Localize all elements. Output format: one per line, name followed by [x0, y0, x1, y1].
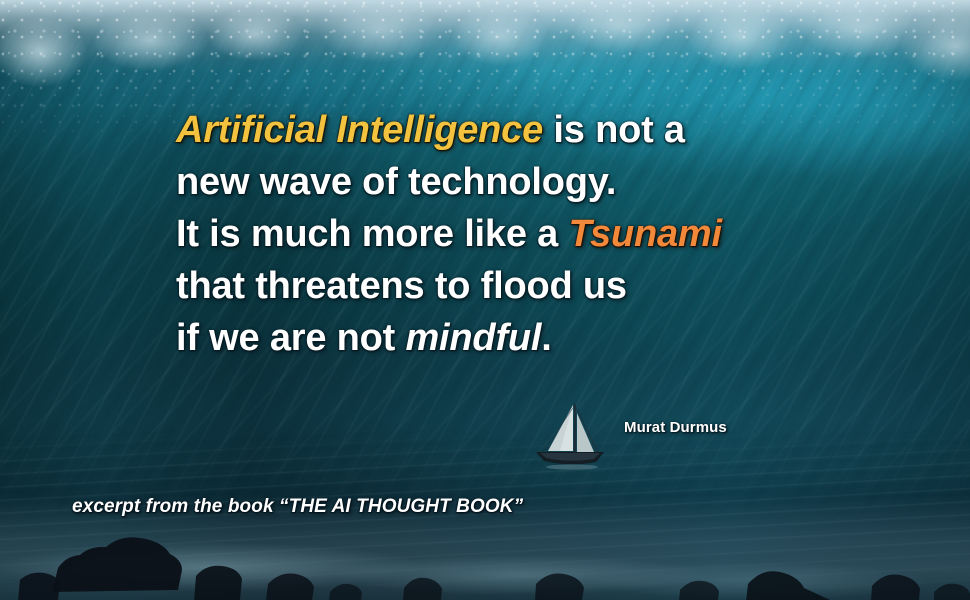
quote-line-5: if we are not mindful. [176, 312, 876, 364]
emphasis-mindful: mindful [405, 317, 541, 359]
quote-graphic: Artificial Intelligence is not a new wav… [0, 0, 970, 600]
sailboat-icon [528, 398, 612, 470]
quote-line-4-text: that threatens to flood us [176, 265, 627, 307]
quote-line-1-tail: is not a [543, 109, 685, 151]
highlight-artificial-intelligence: Artificial Intelligence [176, 109, 543, 151]
quote-block: Artificial Intelligence is not a new wav… [176, 104, 876, 364]
book-source-credit: excerpt from the book “THE AI THOUGHT BO… [72, 496, 523, 518]
quote-line-3: It is much more like a Tsunami [176, 208, 876, 260]
quote-line-2: new wave of technology. [176, 156, 876, 208]
quote-line-2-text: new wave of technology. [176, 161, 616, 203]
highlight-tsunami: Tsunami [568, 213, 721, 255]
quote-line-5-head: if we are not [176, 317, 405, 359]
quote-line-4: that threatens to flood us [176, 260, 876, 312]
quote-line-5-period: . [541, 317, 551, 359]
author-name: Murat Durmus [624, 419, 727, 436]
quote-line-1: Artificial Intelligence is not a [176, 104, 876, 156]
quote-line-3-head: It is much more like a [176, 213, 568, 255]
